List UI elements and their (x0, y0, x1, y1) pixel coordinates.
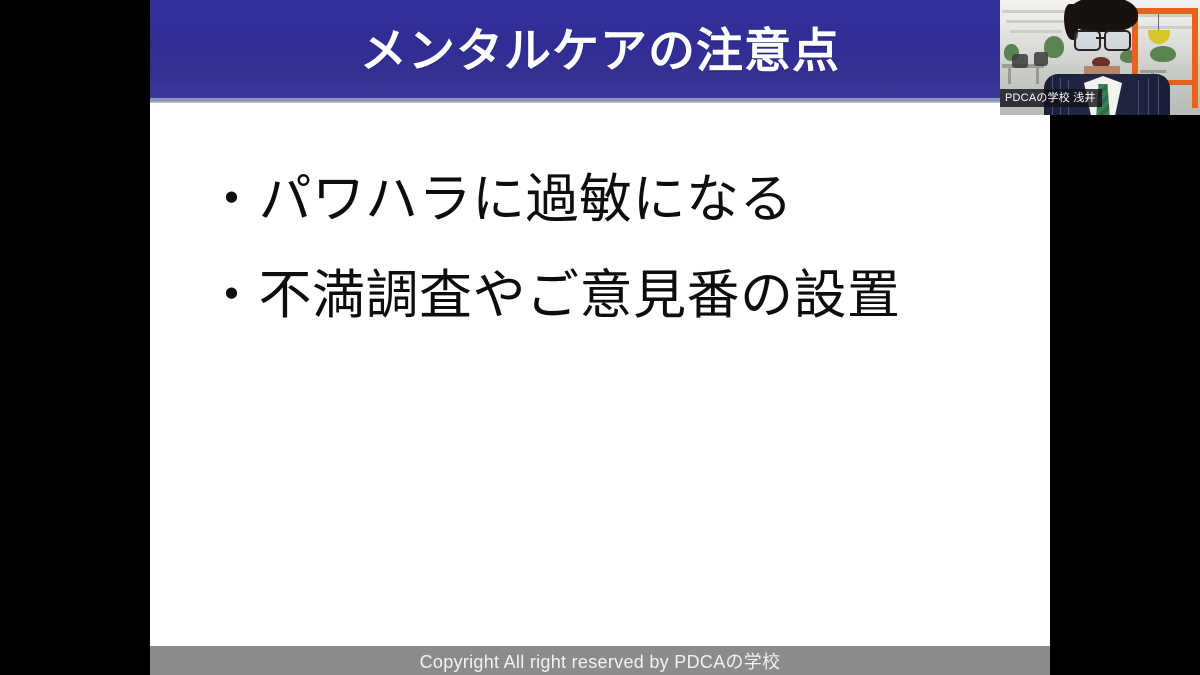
list-item: ・不満調査やご意見番の設置 (205, 248, 1005, 344)
suit-stripe (1138, 80, 1139, 115)
copyright-text: Copyright All right reserved by PDCAの学校 (420, 648, 781, 674)
ceiling-beam (1010, 30, 1062, 33)
orange-frame-post (1192, 8, 1198, 108)
letterbox-left (0, 0, 150, 675)
glasses-left-lens (1074, 30, 1101, 51)
title-banner-underline (150, 98, 1050, 103)
orange-frame-beam (1132, 8, 1198, 14)
participant-name-label: PDCAの学校 浅井 (1000, 89, 1102, 107)
slide-bullet-list: ・パワハラに過敏になる ・不満調査やご意見番の設置 (205, 152, 1005, 344)
glasses-bridge (1096, 37, 1105, 39)
suit-stripe (1148, 78, 1149, 115)
ceiling-beam (1134, 26, 1194, 29)
office-desk-leg (1008, 68, 1011, 84)
ceiling-beam (1132, 14, 1194, 17)
list-item: ・パワハラに過敏になる (205, 152, 1005, 248)
office-plant (1150, 46, 1176, 62)
office-desk-leg (1036, 68, 1039, 84)
ceiling-beam (1002, 10, 1068, 13)
webcam-video-tile[interactable]: PDCAの学校 浅井 (1000, 0, 1200, 115)
office-chair (1034, 52, 1048, 66)
ceiling-beam (1006, 20, 1064, 23)
office-chair (1012, 54, 1028, 68)
suit-stripe (1158, 76, 1159, 115)
screen-share-view: メンタルケアの注意点 ・パワハラに過敏になる ・不満調査やご意見番の設置 Cop… (0, 0, 1200, 675)
slide-footer-bar: Copyright All right reserved by PDCAの学校 (150, 646, 1050, 675)
slide-title-banner: メンタルケアの注意点 (150, 0, 1050, 98)
slide-title: メンタルケアの注意点 (360, 27, 840, 74)
presentation-slide: メンタルケアの注意点 ・パワハラに過敏になる ・不満調査やご意見番の設置 Cop… (150, 0, 1050, 675)
pendant-lamp-cord (1158, 14, 1159, 30)
glasses-right-lens (1104, 30, 1131, 51)
